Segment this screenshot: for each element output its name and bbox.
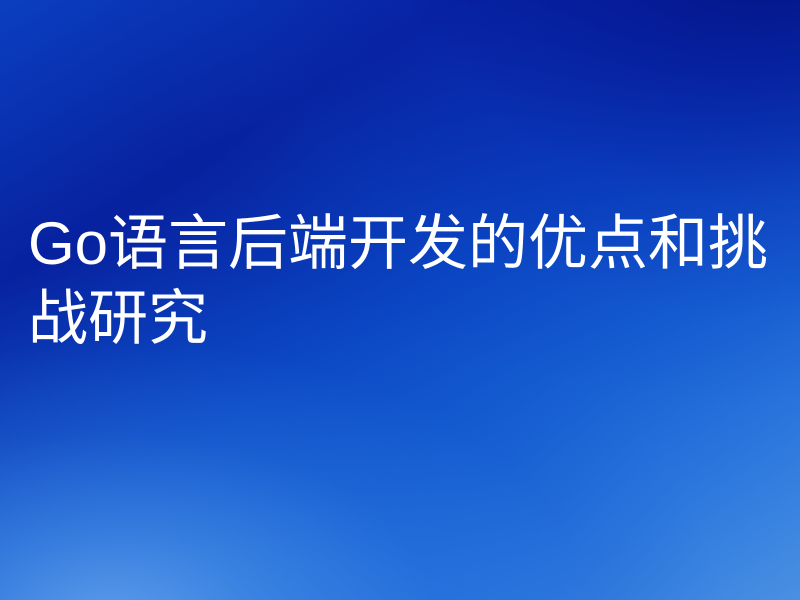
- title-block: Go语言后端开发的优点和挑战研究: [28, 206, 784, 356]
- presentation-slide: Go语言后端开发的优点和挑战研究: [0, 0, 800, 600]
- slide-title: Go语言后端开发的优点和挑战研究: [28, 206, 784, 356]
- slide-content-area: Go语言后端开发的优点和挑战研究: [0, 0, 800, 600]
